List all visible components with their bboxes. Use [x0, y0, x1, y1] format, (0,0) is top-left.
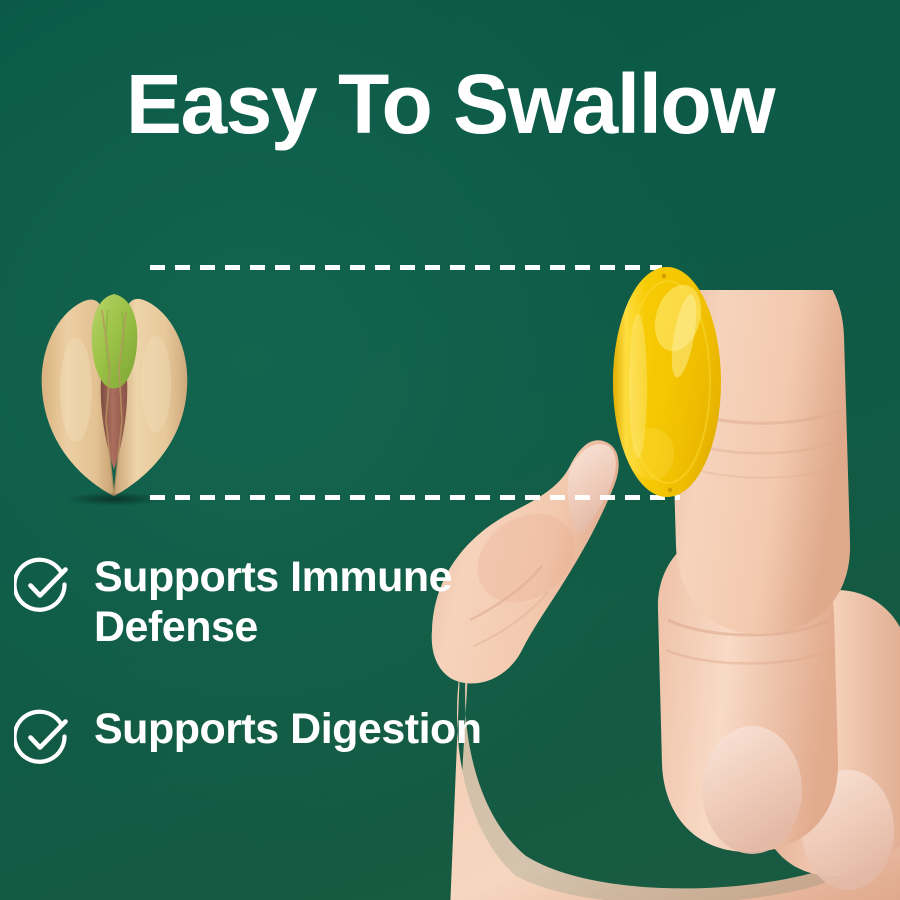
benefit-item-digestion: Supports Digestion [14, 704, 534, 766]
benefit-label: Supports Digestion [94, 704, 482, 754]
pistachio-shadow [64, 492, 164, 506]
promo-banner: Easy To Swallow [0, 0, 900, 900]
dashed-measure-line-top [150, 265, 662, 270]
benefit-item-immune: Supports Immune Defense [14, 552, 534, 652]
pistachio-nut [36, 280, 192, 502]
pistachio-illustration [36, 280, 192, 502]
check-circle-icon [14, 708, 72, 766]
dashed-measure-line-bottom [150, 495, 680, 500]
check-circle-icon [14, 556, 72, 614]
benefit-label: Supports Immune Defense [94, 552, 514, 652]
capsule-illustration [612, 266, 722, 498]
page-title: Easy To Swallow [0, 62, 900, 146]
yellow-softgel-capsule [612, 266, 722, 498]
benefits-list: Supports Immune Defense Supports Digesti… [14, 552, 534, 766]
